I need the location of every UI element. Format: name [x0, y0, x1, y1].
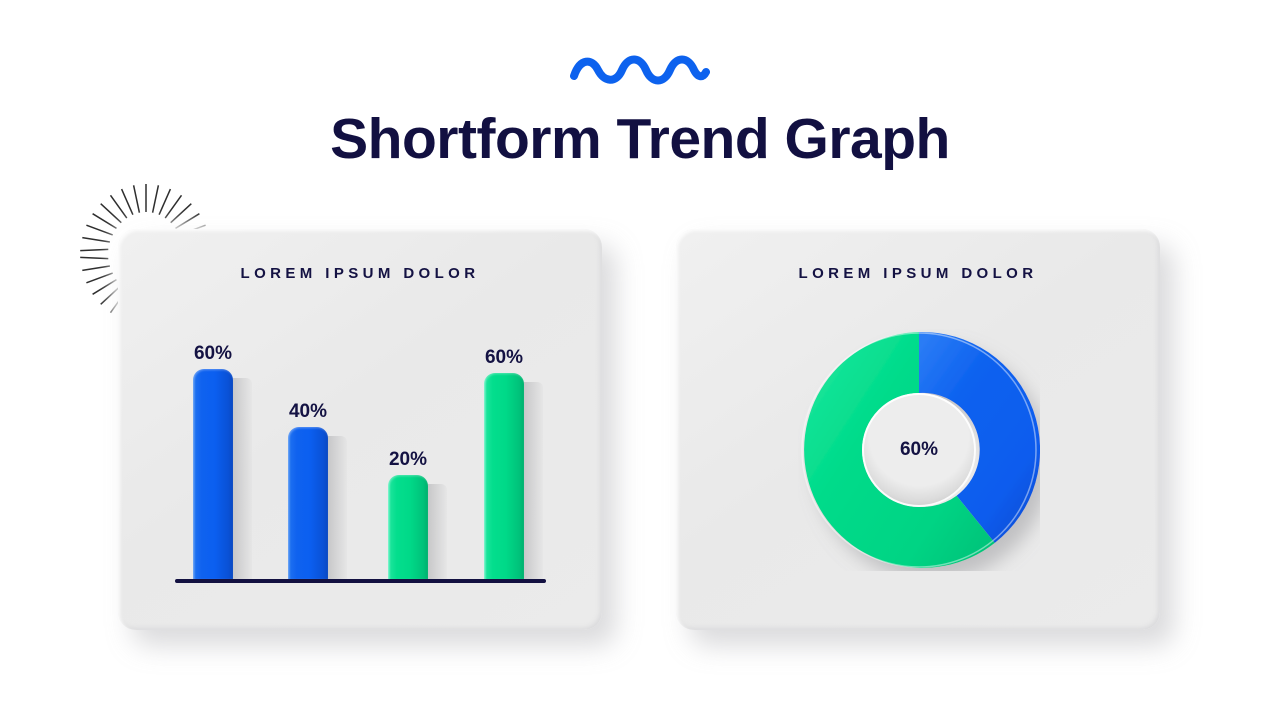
bar-shape: [388, 475, 428, 579]
bar-shape: [193, 369, 233, 579]
bar-group[interactable]: 40%: [288, 427, 328, 579]
bar-group[interactable]: 60%: [193, 369, 233, 579]
bar-shape: [484, 373, 524, 579]
bar-group[interactable]: 20%: [388, 475, 428, 579]
bar-shape: [288, 427, 328, 579]
donut-chart-card-title: LOREM IPSUM DOLOR: [676, 265, 1160, 282]
bar-value-label: 60%: [485, 347, 523, 369]
bar-chart-card[interactable]: LOREM IPSUM DOLOR 60% 40% 20% 60%: [118, 229, 602, 630]
bar-chart-baseline: [175, 579, 546, 583]
donut-chart-plot: 60%: [798, 329, 1040, 571]
bar-chart-plot: 60% 40% 20% 60%: [118, 229, 602, 630]
bar-value-label: 40%: [289, 401, 327, 423]
donut-chart-card[interactable]: LOREM IPSUM DOLOR: [676, 229, 1160, 630]
wavy-line-icon: [570, 52, 710, 88]
page-title: Shortform Trend Graph: [0, 108, 1280, 171]
bar-value-label: 60%: [194, 343, 232, 365]
bar-group[interactable]: 60%: [484, 373, 524, 579]
bar-value-label: 20%: [389, 449, 427, 471]
